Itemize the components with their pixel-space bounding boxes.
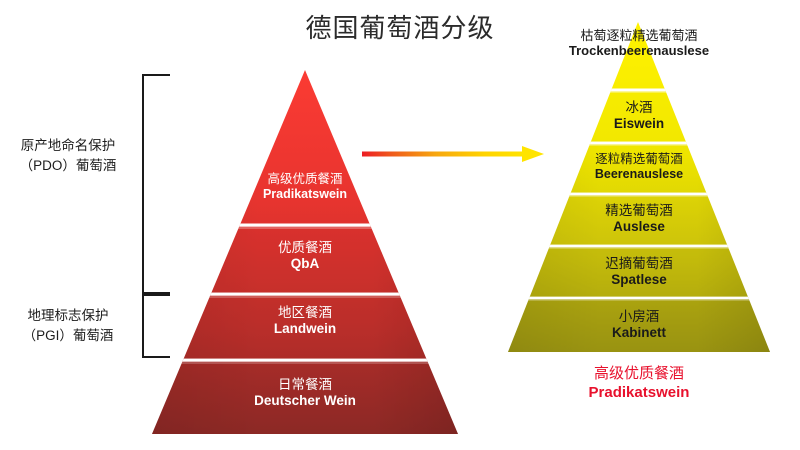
right-tier-trockenbeerenauslese-cn: 枯萄逐粒精选葡萄酒 xyxy=(508,28,770,43)
category-label-pdo-line2: （PDO）葡萄酒 xyxy=(2,156,134,176)
left-tier-pradikatswein-de: Pradikatswein xyxy=(205,187,405,202)
left-tier-deutscher-wein: 日常餐酒 Deutscher Wein xyxy=(205,377,405,409)
right-tier-beerenauslese-de: Beerenauslese xyxy=(508,167,770,182)
right-pyramid-caption-cn: 高级优质餐酒 xyxy=(508,365,770,384)
right-tier-beerenauslese-cn: 逐粒精选葡萄酒 xyxy=(508,152,770,167)
category-label-pgi-line2: （PGI）葡萄酒 xyxy=(2,326,134,346)
category-label-pgi: 地理标志保护 （PGI）葡萄酒 xyxy=(2,306,134,345)
right-tier-eiswein: 冰酒 Eiswein xyxy=(508,100,770,132)
left-tier-pradikatswein: 高级优质餐酒 Pradikatswein xyxy=(205,172,405,202)
right-tier-spatlese-de: Spatlese xyxy=(508,272,770,288)
left-tier-landwein: 地区餐酒 Landwein xyxy=(205,305,405,337)
left-tier-landwein-cn: 地区餐酒 xyxy=(205,305,405,321)
left-tier-qba-cn: 优质餐酒 xyxy=(205,240,405,256)
right-tier-trockenbeerenauslese: 枯萄逐粒精选葡萄酒 Trockenbeerenauslese xyxy=(508,28,770,59)
bracket-pdo xyxy=(142,74,170,294)
left-tier-deutscher-wein-cn: 日常餐酒 xyxy=(205,377,405,393)
right-tier-eiswein-de: Eiswein xyxy=(508,116,770,132)
right-tier-auslese-de: Auslese xyxy=(508,219,770,235)
left-tier-qba: 优质餐酒 QbA xyxy=(205,240,405,272)
right-tier-spatlese-cn: 迟摘葡萄酒 xyxy=(508,256,770,272)
slide-canvas: 德国葡萄酒分级 原产地命名保护 （PDO）葡萄酒 地理标志保护 （PGI）葡萄酒 xyxy=(0,0,800,450)
left-tier-landwein-de: Landwein xyxy=(205,321,405,337)
right-pyramid-caption-de: Pradikatswein xyxy=(508,384,770,403)
right-tier-auslese: 精选葡萄酒 Auslese xyxy=(508,203,770,235)
right-tier-beerenauslese: 逐粒精选葡萄酒 Beerenauslese xyxy=(508,152,770,182)
right-tier-kabinett-cn: 小房酒 xyxy=(508,309,770,325)
category-label-pgi-line1: 地理标志保护 xyxy=(2,306,134,326)
right-tier-auslese-cn: 精选葡萄酒 xyxy=(508,203,770,219)
right-tier-kabinett-de: Kabinett xyxy=(508,325,770,341)
right-tier-eiswein-cn: 冰酒 xyxy=(508,100,770,116)
right-tier-kabinett: 小房酒 Kabinett xyxy=(508,309,770,341)
left-tier-qba-de: QbA xyxy=(205,256,405,272)
category-label-pdo-line1: 原产地命名保护 xyxy=(2,136,134,156)
right-tier-spatlese: 迟摘葡萄酒 Spatlese xyxy=(508,256,770,288)
left-tier-deutscher-wein-de: Deutscher Wein xyxy=(205,393,405,409)
left-tier-pradikatswein-cn: 高级优质餐酒 xyxy=(205,172,405,187)
right-tier-trockenbeerenauslese-de: Trockenbeerenauslese xyxy=(508,43,770,58)
right-pyramid-caption: 高级优质餐酒 Pradikatswein xyxy=(508,365,770,403)
category-label-pdo: 原产地命名保护 （PDO）葡萄酒 xyxy=(2,136,134,175)
bracket-pgi xyxy=(142,294,170,358)
